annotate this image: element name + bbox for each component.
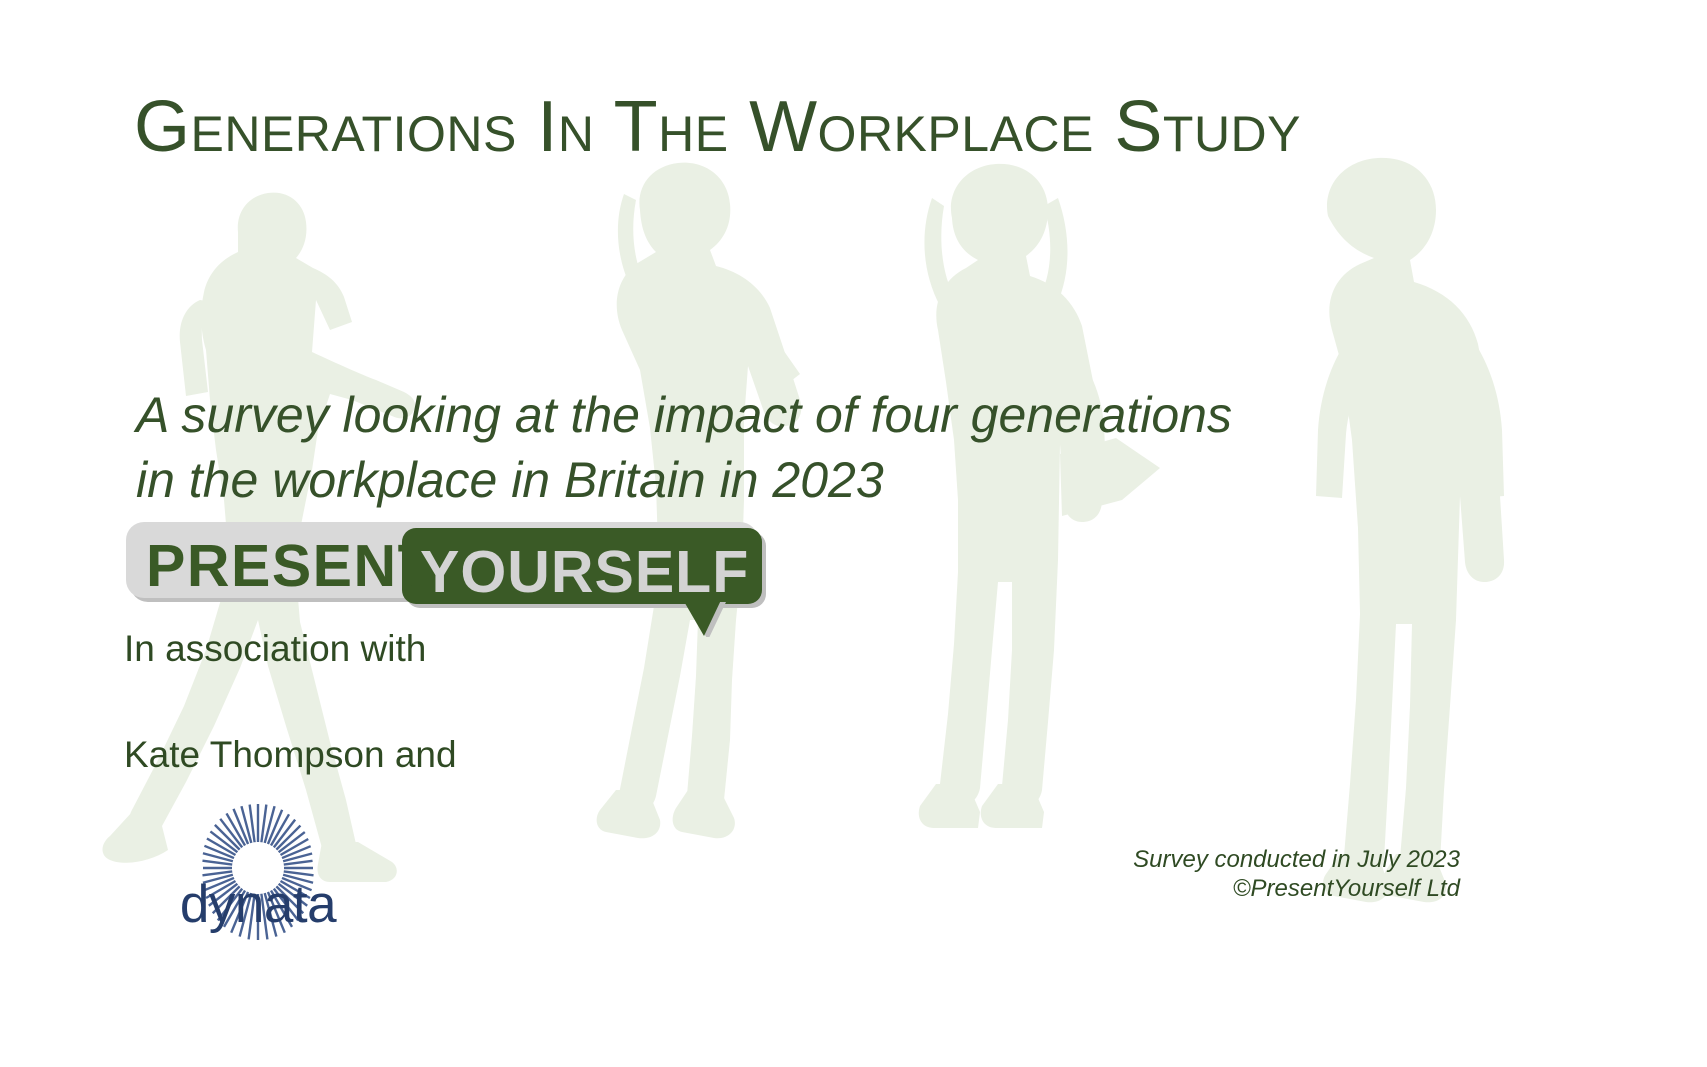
page-subtitle: A survey looking at the impact of four g… — [136, 383, 1466, 513]
author-line: Kate Thompson and — [124, 734, 457, 776]
slide-canvas: Generations In The Workplace Study A sur… — [0, 0, 1707, 1067]
dynata-wordmark: dynata — [168, 878, 348, 931]
association-label: In association with — [124, 628, 426, 670]
present-yourself-logo: PRESENT YOURSELF — [122, 512, 822, 637]
footer-survey-date: Survey conducted in July 2023 — [1133, 845, 1460, 874]
subtitle-line-2: in the workplace in Britain in 2023 — [136, 448, 1466, 513]
footer-credits: Survey conducted in July 2023 ©PresentYo… — [1133, 845, 1460, 904]
footer-copyright: ©PresentYourself Ltd — [1133, 874, 1460, 903]
logo-word-present: PRESENT — [146, 533, 435, 599]
subtitle-line-1: A survey looking at the impact of four g… — [136, 383, 1466, 448]
logo-word-yourself: YOURSELF — [420, 539, 749, 605]
page-title: Generations In The Workplace Study — [134, 82, 1454, 173]
